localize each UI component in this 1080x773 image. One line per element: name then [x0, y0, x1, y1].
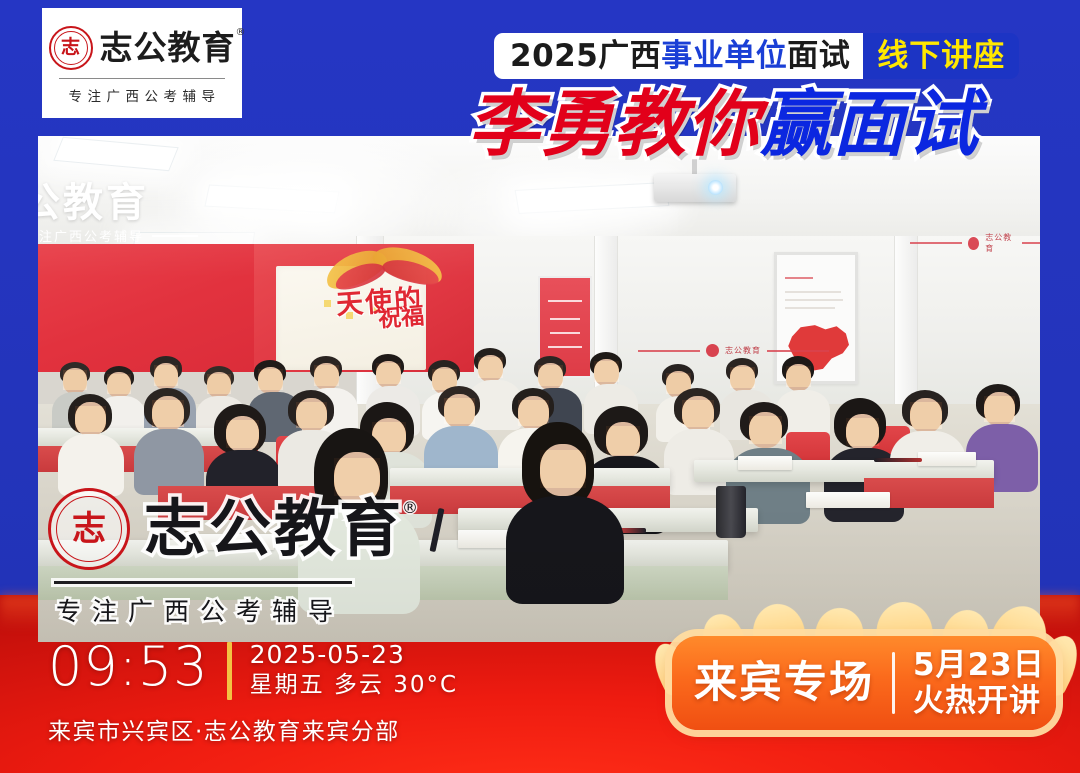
badge-left-label: 来宾专场: [672, 662, 874, 705]
logo-divider: [59, 78, 225, 79]
location-text: 来宾市兴宾区·志公教育来宾分部: [48, 712, 458, 746]
badge-separator: [892, 652, 895, 714]
timestamp-details: 2025-05-23 星期五 多云 30°C: [250, 640, 458, 697]
decor-text-2: 祝福: [377, 296, 425, 333]
sub-banner-highlight: 事业单位: [661, 41, 787, 72]
seal-char: 志: [51, 28, 91, 68]
wall-logo: 志公教育: [910, 232, 1040, 254]
watermark-name: 志公教育 ®: [144, 498, 404, 560]
brand-seal-icon: 志: [49, 26, 93, 70]
brand-name: 志公教育 ®: [100, 31, 236, 64]
watermark-tagline: 专注广西公考辅导: [56, 592, 344, 628]
notebook: [806, 492, 890, 508]
badge-date: 5月23日: [913, 650, 1045, 681]
wall-logo: 志公教育: [638, 344, 829, 357]
sub-banner-main: 2025广西 事业单位 面试: [494, 33, 863, 79]
watermark-row: 志 志公教育 ®: [48, 488, 404, 570]
badge-right-block: 5月23日 火热开讲: [913, 650, 1045, 717]
projector-lens: [708, 180, 723, 195]
watermark-seal-char: 志: [51, 491, 127, 567]
page-title: 李勇教你 赢面试: [468, 88, 979, 160]
wall-banner-title: 公教育: [38, 170, 149, 228]
wall-column: [894, 236, 918, 406]
projector: [654, 174, 736, 202]
timestamp-divider: [227, 642, 232, 700]
sub-banner-part1: 2025广西: [510, 41, 661, 72]
event-badge: 来宾专场 5月23日 火热开讲: [648, 608, 1080, 756]
weather-text: 星期五 多云 30°C: [250, 674, 458, 697]
angel-decoration: 天使的 祝福: [320, 254, 452, 330]
sub-banner-tag: 线下讲座: [863, 33, 1019, 79]
brand-tagline: 专注广西公考辅导: [64, 85, 221, 105]
wall-logo-text: 志公教育: [985, 232, 1015, 254]
title-red-part: 李勇教你: [468, 88, 760, 160]
notebook: [738, 456, 792, 470]
watermark-seal-icon: 志: [48, 488, 130, 570]
wall-banner-sub-text: 专注广西公考辅导: [38, 226, 144, 245]
brand-logo-row: 志 志公教育 ®: [49, 26, 236, 70]
wall-logo-text: 志公教育: [725, 345, 761, 356]
watermark-divider: [54, 581, 352, 584]
wall-banner-sub: 专注广西公考辅导: [38, 226, 198, 245]
registered-mark-icon: ®: [236, 28, 247, 38]
event-sub-banner: 2025广西 事业单位 面试 线下讲座: [494, 33, 1019, 79]
watermark-name-text: 志公教育: [144, 492, 404, 565]
watermark-logo: 志 志公教育 ® 专注广西公考辅导: [48, 488, 404, 628]
notebook: [918, 452, 976, 466]
timestamp-row: 09:53 2025-05-23 星期五 多云 30°C: [48, 640, 458, 700]
tumbler: [716, 486, 746, 538]
watermark-registered-mark-icon: ®: [402, 500, 421, 516]
sub-banner-part3: 面试: [787, 41, 850, 72]
brand-name-text: 志公教育: [100, 28, 236, 67]
pen: [874, 458, 922, 462]
wall-banner-rule: [152, 235, 198, 237]
title-blue-part: 赢面试: [760, 88, 979, 160]
brand-logo-card: 志 志公教育 ® 专注广西公考辅导: [42, 8, 242, 118]
clock-time: 09:53: [48, 640, 209, 694]
timestamp-overlay: 09:53 2025-05-23 星期五 多云 30°C 来宾市兴宾区·志公教育…: [48, 640, 458, 746]
promo-poster: 公教育 专注广西公考辅导 天使的 祝福: [0, 0, 1080, 773]
badge-body: 来宾专场 5月23日 火热开讲: [672, 636, 1056, 730]
badge-cta: 火热开讲: [913, 686, 1045, 717]
date-text: 2025-05-23: [250, 642, 458, 667]
